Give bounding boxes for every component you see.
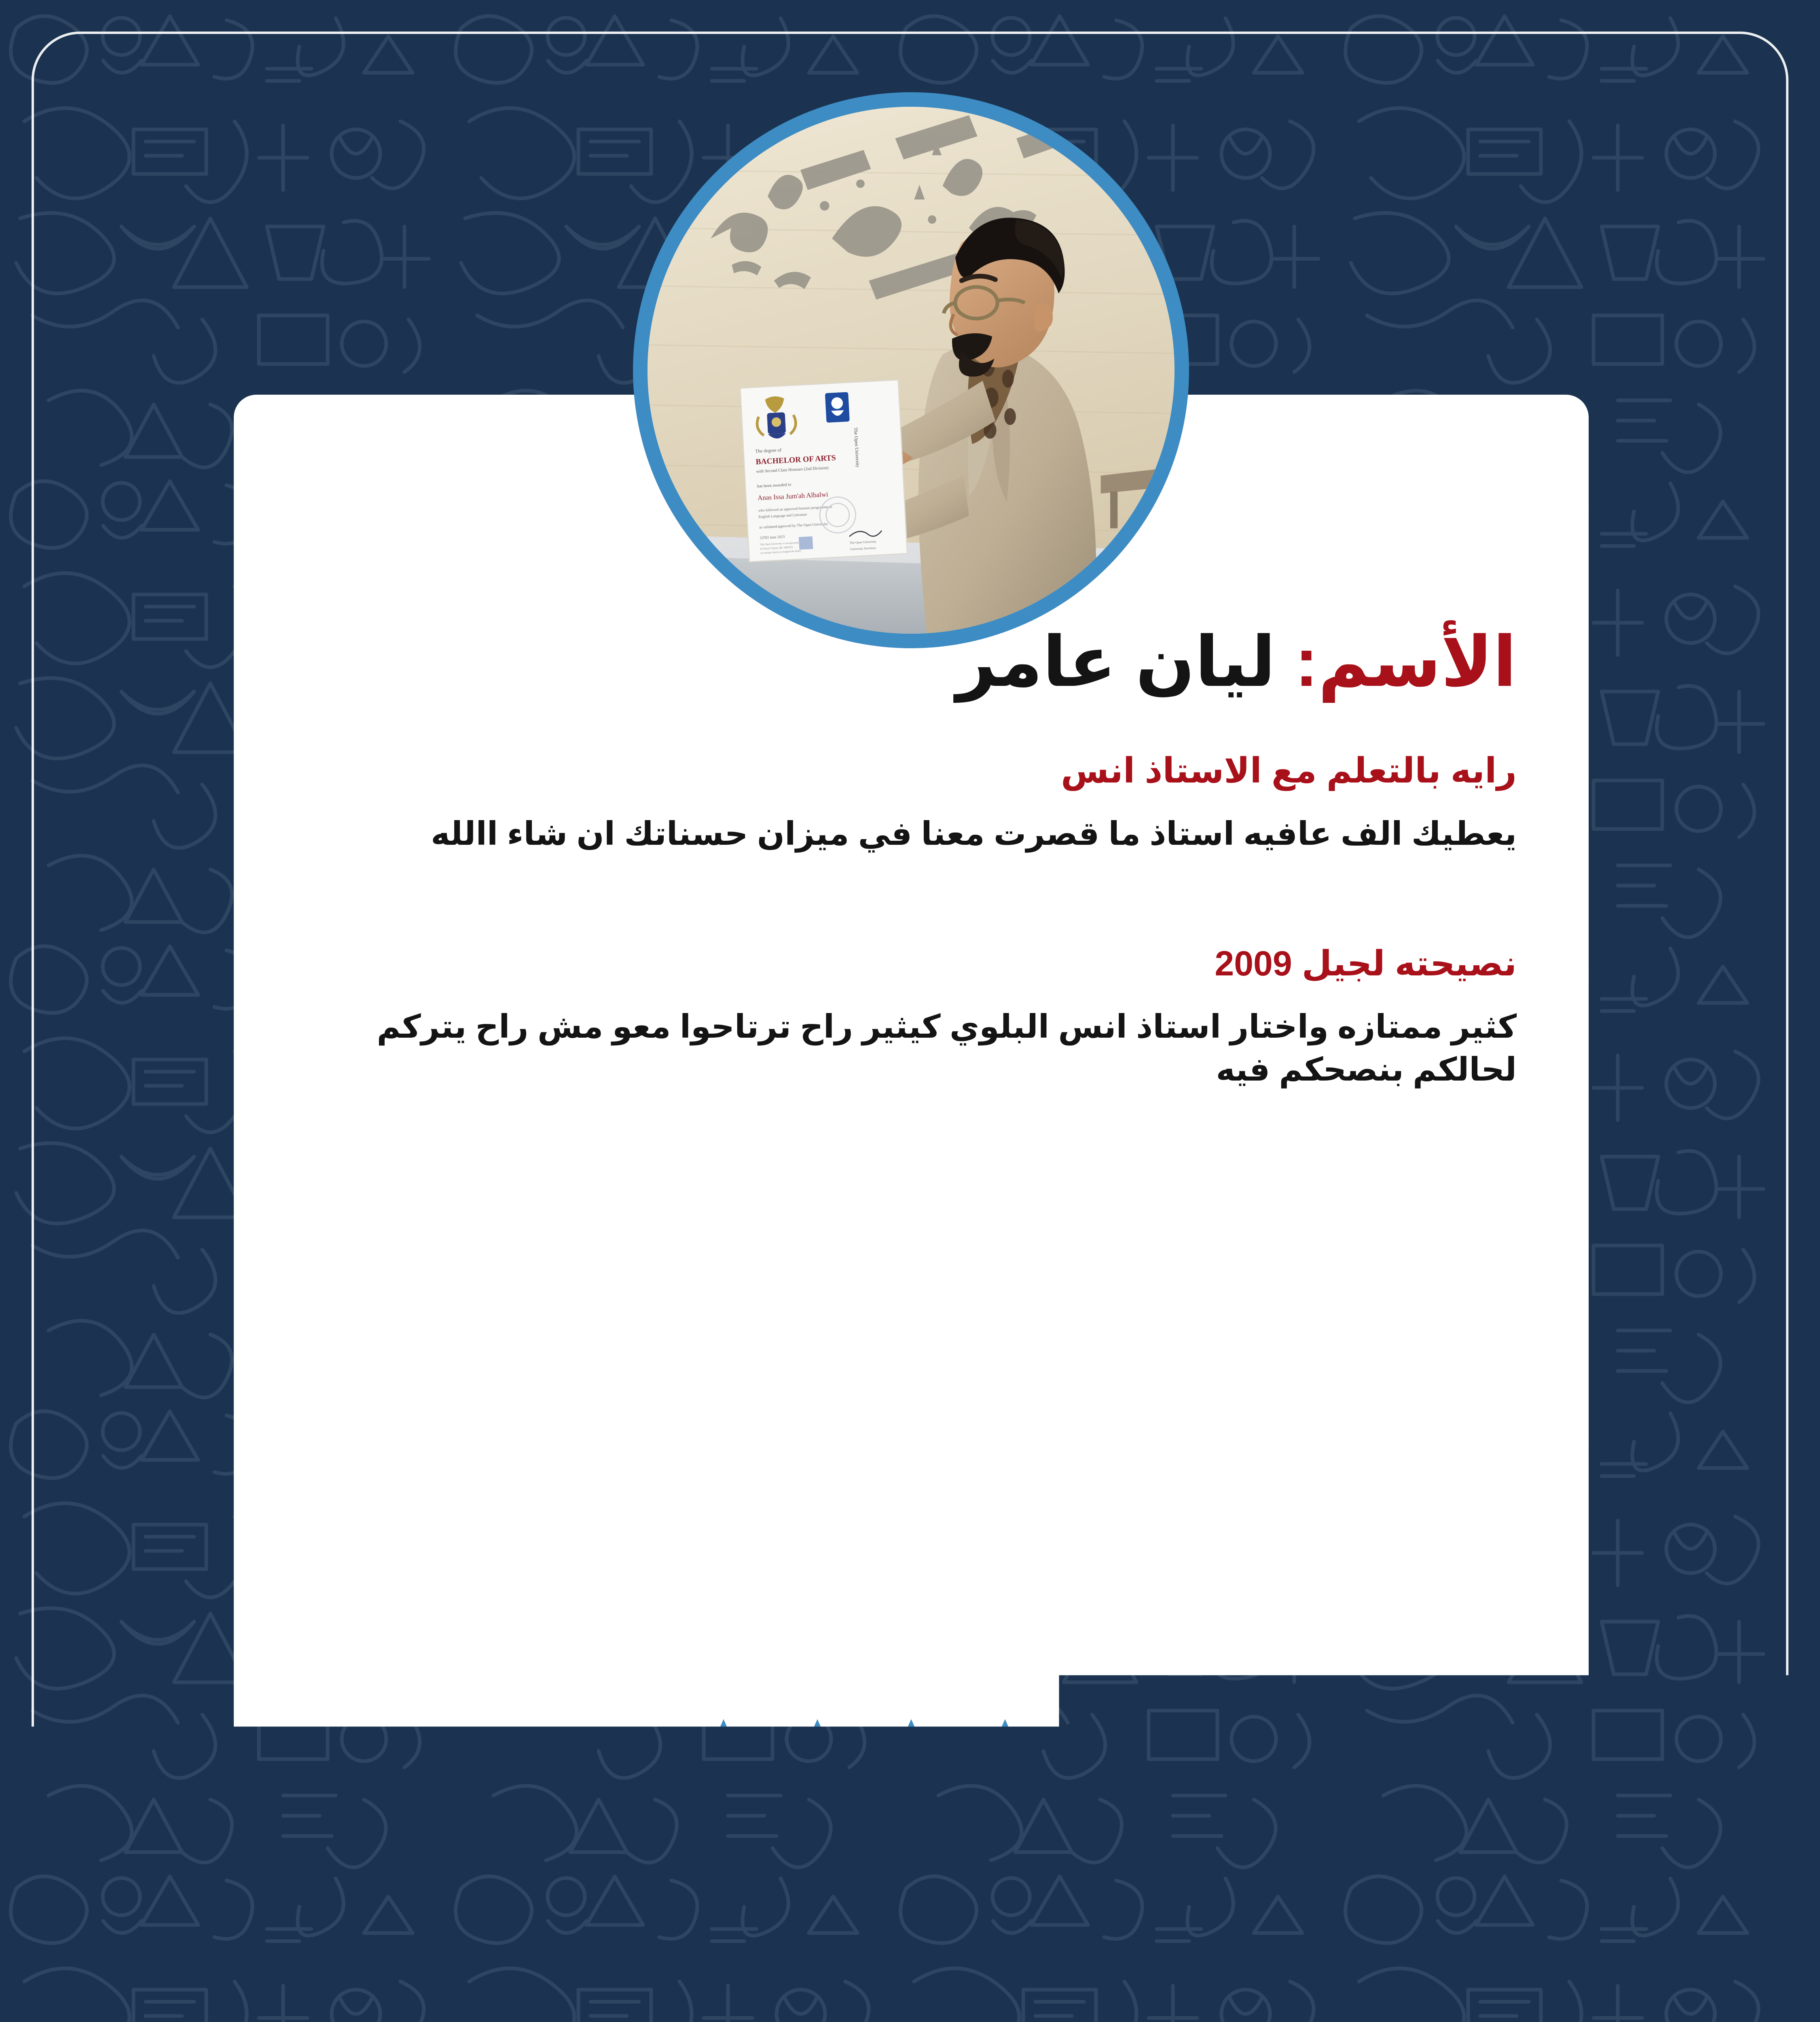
- advice-title: نصيحته لجيل 2009: [306, 941, 1517, 987]
- star-5-empty: [1065, 1715, 1132, 1782]
- advice-body: كثير ممتازه واختار استاذ انس البلوي كيثي…: [306, 1005, 1517, 1091]
- star-2: [784, 1715, 851, 1782]
- avatar: The Open University The degree of BACHEL…: [633, 92, 1189, 648]
- rating-stars: [234, 1715, 1589, 1782]
- website-url: TEACHERANAS.COM: [779, 1872, 1043, 1900]
- star-3: [878, 1715, 945, 1782]
- opinion-section: رايه بالتعلم مع الاستاذ انس يعطيك الف عا…: [306, 749, 1517, 855]
- advice-section: نصيحته لجيل 2009 كثير ممتازه واختار استا…: [306, 941, 1517, 1091]
- opinion-body: يعطيك الف عافيه استاذ ما قصرت معنا في مي…: [306, 812, 1517, 855]
- star-1: [690, 1715, 757, 1782]
- footer: TEACHERANAS.COM: [234, 1872, 1589, 1900]
- star-4: [971, 1715, 1039, 1782]
- name-label: الأسم:: [1295, 623, 1517, 701]
- avatar-photo: The Open University The degree of BACHEL…: [648, 107, 1175, 634]
- name-value: ليان عامر: [956, 623, 1276, 701]
- poster-root: الأسم: ليان عامر رايه بالتعلم مع الاستاذ…: [0, 0, 1820, 2022]
- opinion-title: رايه بالتعلم مع الاستاذ انس: [306, 749, 1517, 794]
